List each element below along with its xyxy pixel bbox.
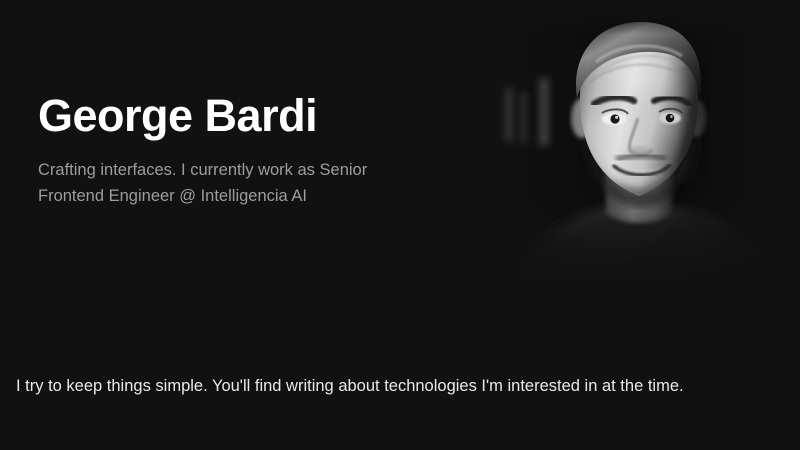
hero-text-block: George Bardi Crafting interfaces. I curr… xyxy=(38,92,458,209)
bokeh-bar-icon xyxy=(539,78,549,146)
page-root: George Bardi Crafting interfaces. I curr… xyxy=(0,0,800,450)
portrait-photo xyxy=(478,0,800,300)
page-title: George Bardi xyxy=(38,92,458,139)
bokeh-bar-icon xyxy=(520,92,527,144)
bokeh-bar-icon xyxy=(505,88,513,142)
hero-subtitle: Crafting interfaces. I currently work as… xyxy=(38,157,423,209)
portrait-illustration xyxy=(478,0,800,300)
footer-section: I try to keep things simple. You'll find… xyxy=(0,330,800,450)
footer-tagline: I try to keep things simple. You'll find… xyxy=(0,374,684,407)
hero-section: George Bardi Crafting interfaces. I curr… xyxy=(0,0,800,330)
